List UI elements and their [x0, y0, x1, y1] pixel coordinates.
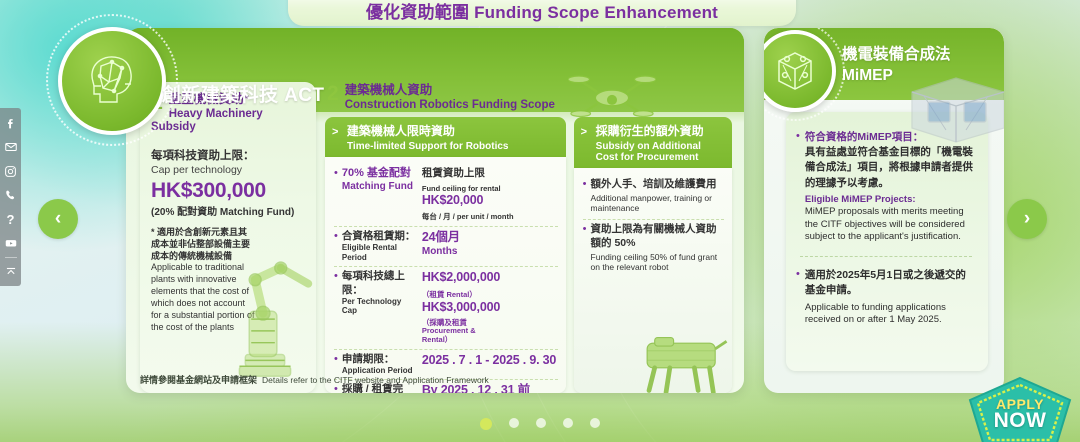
chevron-left-icon: ‹ [55, 208, 61, 230]
chevron-right-icon: › [1024, 208, 1030, 230]
carousel-dot[interactable] [480, 418, 492, 430]
bullet-icon: • [334, 353, 338, 376]
mimep-module-icon [771, 47, 819, 95]
bullet-icon: • [334, 230, 338, 262]
row0-value-unit: 每台 / 月 / per unit / month [422, 211, 514, 222]
row1-value-en: Months [422, 246, 558, 258]
robot-dog-illustration [632, 327, 732, 393]
email-icon[interactable] [2, 137, 19, 157]
carousel-dots [480, 418, 600, 430]
row0-value-en-small: Fund ceiling for rental [422, 184, 501, 193]
list-item: • 符合資格的MiMEP項目： 具有益處並符合基金目標的「機電裝備合成法」項目，… [796, 130, 976, 243]
carousel-dot[interactable] [563, 418, 573, 428]
subpanel-left-title-en: Time-limited Support for Robotics [347, 141, 558, 152]
list-item: • 每項科技總上限： Per Technology Cap [334, 267, 558, 349]
carousel-next-button[interactable]: › [1007, 199, 1047, 239]
act-footer-zh: 詳情參閱基金網站及申請框架 [140, 373, 257, 386]
subpanel-left-header: > 建築機械人限時資助 Time-limited Support for Rob… [325, 117, 566, 157]
row2-value-tag: （租賃 Rental） [422, 289, 477, 300]
mimep-item1-en: Applicable to funding applications recei… [805, 302, 976, 327]
subpanel-left-body: • 70% 基金配對 Matching Fund 租賃資 [325, 157, 566, 393]
mimep-content-card: • 符合資格的MiMEP項目： 具有益處並符合基金目標的「機電裝備合成法」項目，… [786, 112, 988, 371]
row3-value-big: 2025 . 7 . 1 - 2025 . 9. 30 [422, 353, 556, 369]
card2-number: 2 [327, 83, 339, 104]
brain-head-icon [81, 50, 143, 112]
youtube-icon[interactable] [2, 233, 19, 253]
card1-cap-label-zh: 每項科技資助上限： [151, 149, 305, 164]
act-logo [58, 27, 166, 135]
row2-value-big2: HK$3,000,000 [422, 300, 500, 316]
row2-label-en: Per Technology Cap [342, 297, 416, 316]
mimep-panel: 機電裝備合成法 MiMEP • 符合資格的MiMEP項目： 具有益處並符合基金目… [764, 28, 1004, 393]
row2-label-zh: 每項科技總上限： [342, 270, 416, 296]
carousel-dot[interactable] [536, 418, 546, 428]
page-banner: 優化資助範圍 Funding Scope Enhancement [288, 0, 796, 26]
subpanel-left-title-zh: 建築機械人限時資助 [347, 124, 455, 138]
carousel-dot[interactable] [509, 418, 519, 428]
row0-value-zh: 租賃資助上限 [422, 167, 485, 180]
bullet-icon: • [583, 223, 587, 272]
social-rail: ? [0, 108, 21, 286]
row1-value-big: 24個月 [422, 230, 558, 246]
list-item: • 適用於2025年5月1日或之後遞交的基金申請。 Applicable to … [796, 268, 976, 326]
right-row1-en: Funding ceiling 50% of fund grant on the… [591, 252, 724, 272]
card-construction-robotics: 2 建築機械人資助 Construction Robotics Funding … [325, 82, 732, 393]
row3-label-zh: 申請期限： [342, 353, 416, 366]
act-footer-en: Details refer to the CITF website and Ap… [262, 375, 489, 385]
right-row0-en: Additional manpower, training or mainten… [591, 193, 724, 213]
card2-subpanels: > 建築機械人限時資助 Time-limited Support for Rob… [325, 117, 732, 393]
subpanel-time-limited-support: > 建築機械人限時資助 Time-limited Support for Rob… [325, 117, 566, 393]
apply-now-badge-shape [968, 376, 1072, 442]
right-row1-zh: 資助上限為有關機械人資助額的 50% [591, 223, 724, 250]
card2-title-zh: 建築機械人資助 [327, 83, 732, 99]
subpanel-right-title-zh: 採購衍生的額外資助 [596, 124, 704, 138]
card1-title-en: Heavy Machinery Subsidy [151, 108, 305, 136]
page-title: 優化資助範圍 Funding Scope Enhancement [366, 0, 718, 23]
bullet-icon: • [334, 167, 338, 222]
list-item: • 合資格租賃期： Eligible Rental Period 24個月 [334, 227, 558, 267]
scroll-top-icon[interactable] [2, 262, 19, 282]
act-panel: 創新建築科技 ACT 1 重型機械資助* Heavy Machinery Sub… [126, 28, 744, 393]
right-row0-zh: 額外人手、培訓及維護費用 [591, 178, 724, 192]
bullet-icon: • [334, 270, 338, 344]
subpanel-right-body: • 額外人手、培訓及維護費用 Additional manpower, trai… [574, 168, 732, 393]
card2-header: 2 建築機械人資助 Construction Robotics Funding … [325, 82, 732, 117]
mimep-item1-zh: 適用於2025年5月1日或之後遞交的基金申請。 [805, 268, 976, 298]
carousel-prev-button[interactable]: ‹ [38, 199, 78, 239]
list-item: • 資助上限為有關機械人資助額的 50% Funding ceiling 50%… [583, 220, 724, 277]
chevron-right-icon: > [581, 126, 587, 138]
card1-cap-label-en: Cap per technology [151, 164, 305, 177]
mimep-title-zh: 機電裝備合成法 [842, 45, 951, 66]
instagram-icon[interactable] [2, 161, 19, 181]
mimep-item0-en-bold: Eligible MiMEP Projects: [805, 194, 976, 206]
robot-arm-illustration [206, 249, 316, 393]
bullet-icon: • [796, 268, 800, 326]
phone-icon[interactable] [2, 185, 19, 205]
subpanel-additional-cost: > 採購衍生的額外資助 Subsidy on Additional Cost f… [574, 117, 732, 393]
row2-value-tag2: （採購及租賃 Procurement & Rental） [422, 319, 480, 345]
act-footer: 詳情參閱基金網站及申請框架 Details refer to the CITF … [140, 373, 489, 386]
row0-value-big: HK$20,000 [422, 193, 483, 209]
row0-label-zh: 70% 基金配對 [342, 167, 416, 181]
apply-now-button[interactable]: APPLY NOW [968, 376, 1072, 442]
list-item: • 額外人手、培訓及維護費用 Additional manpower, trai… [583, 175, 724, 218]
row1-label-zh: 合資格租賃期： [342, 230, 416, 243]
card1-amount: HK$300,000 [151, 179, 305, 202]
row2-value-big: HK$2,000,000 [422, 270, 500, 286]
list-item: • 70% 基金配對 Matching Fund 租賃資 [334, 164, 558, 227]
mimep-item0-zh: 具有益處並符合基金目標的「機電裝備合成法」項目，將根據申請者提供的理據予以考慮。 [805, 145, 976, 191]
card2-title-en: Construction Robotics Funding Scope [327, 99, 732, 113]
mimep-machine-illustration [906, 72, 1004, 144]
facebook-icon[interactable] [2, 113, 19, 133]
divider [800, 256, 972, 257]
act-title: 創新建築科技 ACT [162, 80, 324, 107]
mimep-item0-en: MiMEP proposals with merits meeting the … [805, 206, 976, 243]
card1-amount-subtext: (20% 配對資助 Matching Fund) [151, 203, 305, 218]
row1-label-en: Eligible Rental Period [342, 243, 416, 262]
help-icon[interactable]: ? [2, 209, 19, 229]
chevron-right-icon: > [332, 126, 338, 138]
bullet-icon: • [583, 178, 587, 213]
card-heavy-machinery: 1 重型機械資助* Heavy Machinery Subsidy 每項科技資助… [140, 82, 316, 393]
bullet-icon: • [796, 130, 800, 243]
rail-divider [5, 257, 17, 258]
drone-illustration [568, 64, 656, 126]
row0-label-en: Matching Fund [342, 181, 416, 193]
carousel-dot[interactable] [590, 418, 600, 428]
subpanel-right-title-en: Subsidy on Additional Cost for Procureme… [596, 141, 724, 163]
